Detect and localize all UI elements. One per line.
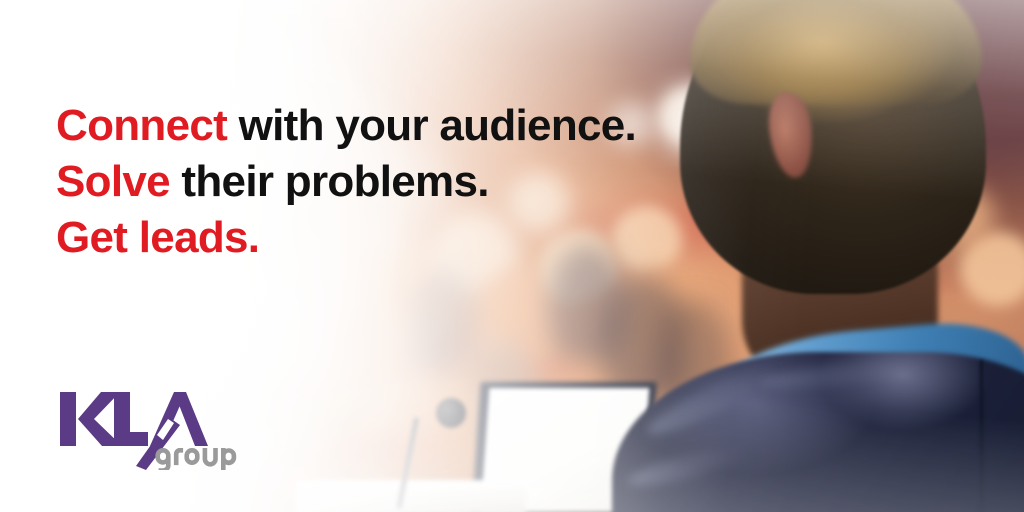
kla-group-logo[interactable]: KLA group: [58, 388, 238, 470]
headline-rest-1: with your audience.: [227, 101, 636, 150]
marketing-banner: Connect with your audience. Solve their …: [0, 0, 1024, 512]
headline-line-2: Solve their problems.: [56, 154, 636, 210]
headline-line-3: Get leads.: [56, 210, 636, 266]
headline-accent-connect: Connect: [56, 101, 227, 150]
headline: Connect with your audience. Solve their …: [56, 98, 636, 266]
headline-rest-2: their problems.: [170, 157, 489, 206]
headline-accent-getleads: Get leads.: [56, 213, 259, 262]
logo-group-text: [155, 448, 236, 470]
headline-line-1: Connect with your audience.: [56, 98, 636, 154]
kla-group-logo-mark: [58, 388, 238, 470]
headline-accent-solve: Solve: [56, 157, 170, 206]
